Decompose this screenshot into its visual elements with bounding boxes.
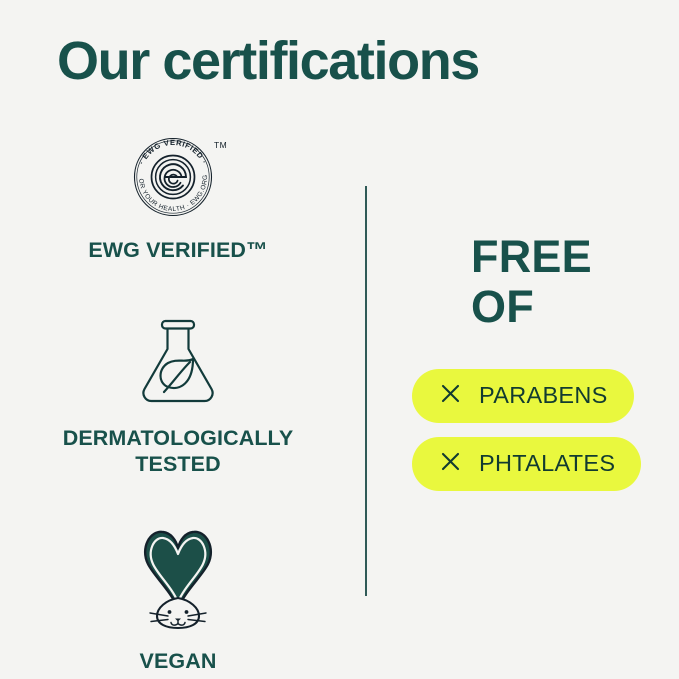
svg-text:· EWG VERIFIED ·: · EWG VERIFIED ·	[137, 138, 209, 166]
certifications-list: · EWG VERIFIED · · FOR YOUR HEALTH · EWG…	[18, 128, 338, 674]
svg-text:TM: TM	[214, 140, 227, 150]
x-icon	[440, 383, 461, 409]
certification-item-dermatologically-tested: DERMATOLOGICALLY TESTED	[18, 313, 338, 477]
certification-item-vegan: VEGAN	[18, 520, 338, 674]
ewg-verified-seal-icon: · EWG VERIFIED · · FOR YOUR HEALTH · EWG…	[119, 128, 237, 225]
flask-with-leaf-icon	[126, 313, 230, 410]
page-title: Our certifications	[57, 33, 479, 90]
free-of-heading-line-1: FREE	[471, 231, 592, 282]
free-of-pill-phtalates: PHTALATES	[412, 437, 641, 491]
x-icon	[440, 451, 461, 477]
free-of-pill-label-phtalates: PHTALATES	[479, 450, 615, 477]
certifications-panel: Our certifications · EWG VERIFIED ·	[0, 0, 679, 679]
free-of-pill-parabens: PARABENS	[412, 369, 634, 423]
certification-label-dermatologically-tested: DERMATOLOGICALLY TESTED	[63, 425, 294, 477]
free-of-pill-list: PARABENS PHTALATES	[412, 369, 652, 491]
free-of-heading: FREE OF	[412, 232, 652, 333]
vertical-divider	[365, 186, 367, 596]
certification-item-ewg-verified: · EWG VERIFIED · · FOR YOUR HEALTH · EWG…	[18, 128, 338, 263]
certification-label-vegan: VEGAN	[140, 648, 217, 674]
free-of-pill-label-parabens: PARABENS	[479, 382, 608, 409]
certification-label-ewg-verified: EWG VERIFIED™	[88, 237, 267, 263]
free-of-section: FREE OF PARABENS PHTALATES	[412, 232, 652, 491]
free-of-heading-line-2: OF	[471, 282, 652, 332]
bunny-heart-ears-icon	[124, 520, 232, 637]
